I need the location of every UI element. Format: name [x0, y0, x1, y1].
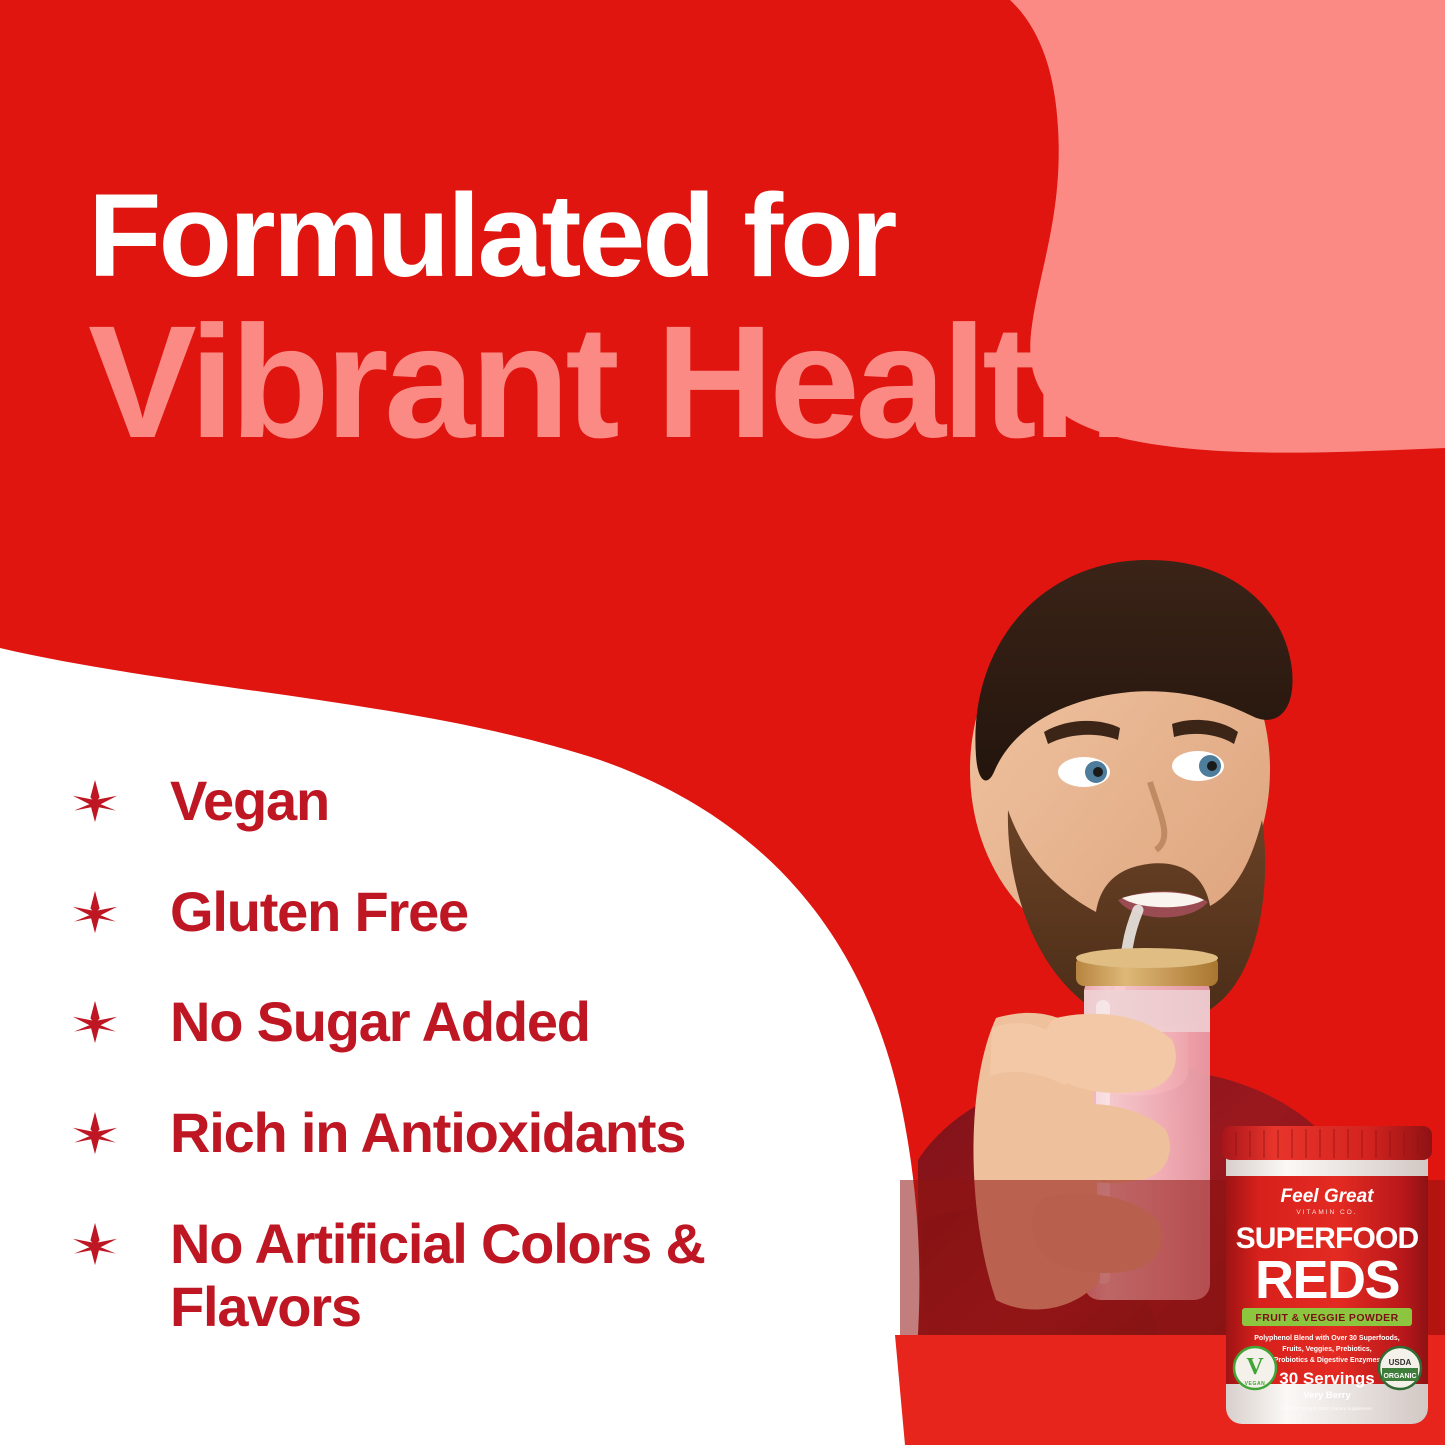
- asterisk-icon: [72, 999, 118, 1045]
- product-brand: Feel Great: [1281, 1186, 1375, 1207]
- asterisk-icon: [72, 1221, 118, 1267]
- promo-graphic: Feel Great VITAMIN CO. SUPERFOOD REDS FR…: [0, 0, 1445, 1445]
- product-servings: 30 Servings: [1279, 1369, 1374, 1388]
- benefit-label: No Sugar Added: [170, 991, 590, 1054]
- product-tub: Feel Great VITAMIN CO. SUPERFOOD REDS FR…: [1212, 1122, 1442, 1445]
- product-net-weight: NET WT. 280g (9.88oz) Dietary Supplement: [1282, 1406, 1372, 1411]
- asterisk-icon: [72, 778, 118, 824]
- benefit-label: Vegan: [170, 770, 329, 833]
- product-name-main: REDS: [1255, 1250, 1399, 1310]
- benefit-item-no-sugar-added: No Sugar Added: [72, 991, 832, 1054]
- asterisk-icon: [72, 1110, 118, 1156]
- organic-badge-line1: USDA: [1389, 1358, 1412, 1367]
- blend-line-3: Probiotics & Digestive Enzymes: [1274, 1357, 1381, 1364]
- benefit-item-rich-in-antioxidants: Rich in Antioxidants: [72, 1102, 832, 1165]
- product-brand-sub: VITAMIN CO.: [1296, 1209, 1357, 1216]
- product-descriptor: FRUIT & VEGGIE POWDER: [1255, 1312, 1398, 1324]
- benefit-item-gluten-free: Gluten Free: [72, 881, 832, 944]
- blend-line-1: Polyphenol Blend with Over 30 Superfoods…: [1254, 1335, 1400, 1342]
- benefits-list: Vegan Gluten Free: [72, 770, 832, 1338]
- benefit-label: Rich in Antioxidants: [170, 1102, 685, 1165]
- benefit-item-no-artificial-colors-flavors: No Artificial Colors & Flavors: [72, 1213, 832, 1338]
- tub-cap: [1222, 1126, 1432, 1160]
- vegan-badge-letter: V: [1246, 1354, 1264, 1380]
- asterisk-icon: [72, 889, 118, 935]
- usda-organic-badge: USDA ORGANIC: [1379, 1347, 1421, 1389]
- benefit-label: No Artificial Colors & Flavors: [170, 1213, 760, 1338]
- vegan-badge-label: VEGAN: [1245, 1381, 1266, 1387]
- blend-line-2: Fruits, Veggies, Prebiotics,: [1282, 1346, 1372, 1353]
- benefit-label: Gluten Free: [170, 881, 468, 944]
- organic-badge-line2: ORGANIC: [1383, 1373, 1416, 1380]
- vegan-badge: V VEGAN: [1234, 1347, 1276, 1389]
- product-flavor: Very Berry: [1303, 1390, 1351, 1401]
- benefit-item-vegan: Vegan: [72, 770, 832, 833]
